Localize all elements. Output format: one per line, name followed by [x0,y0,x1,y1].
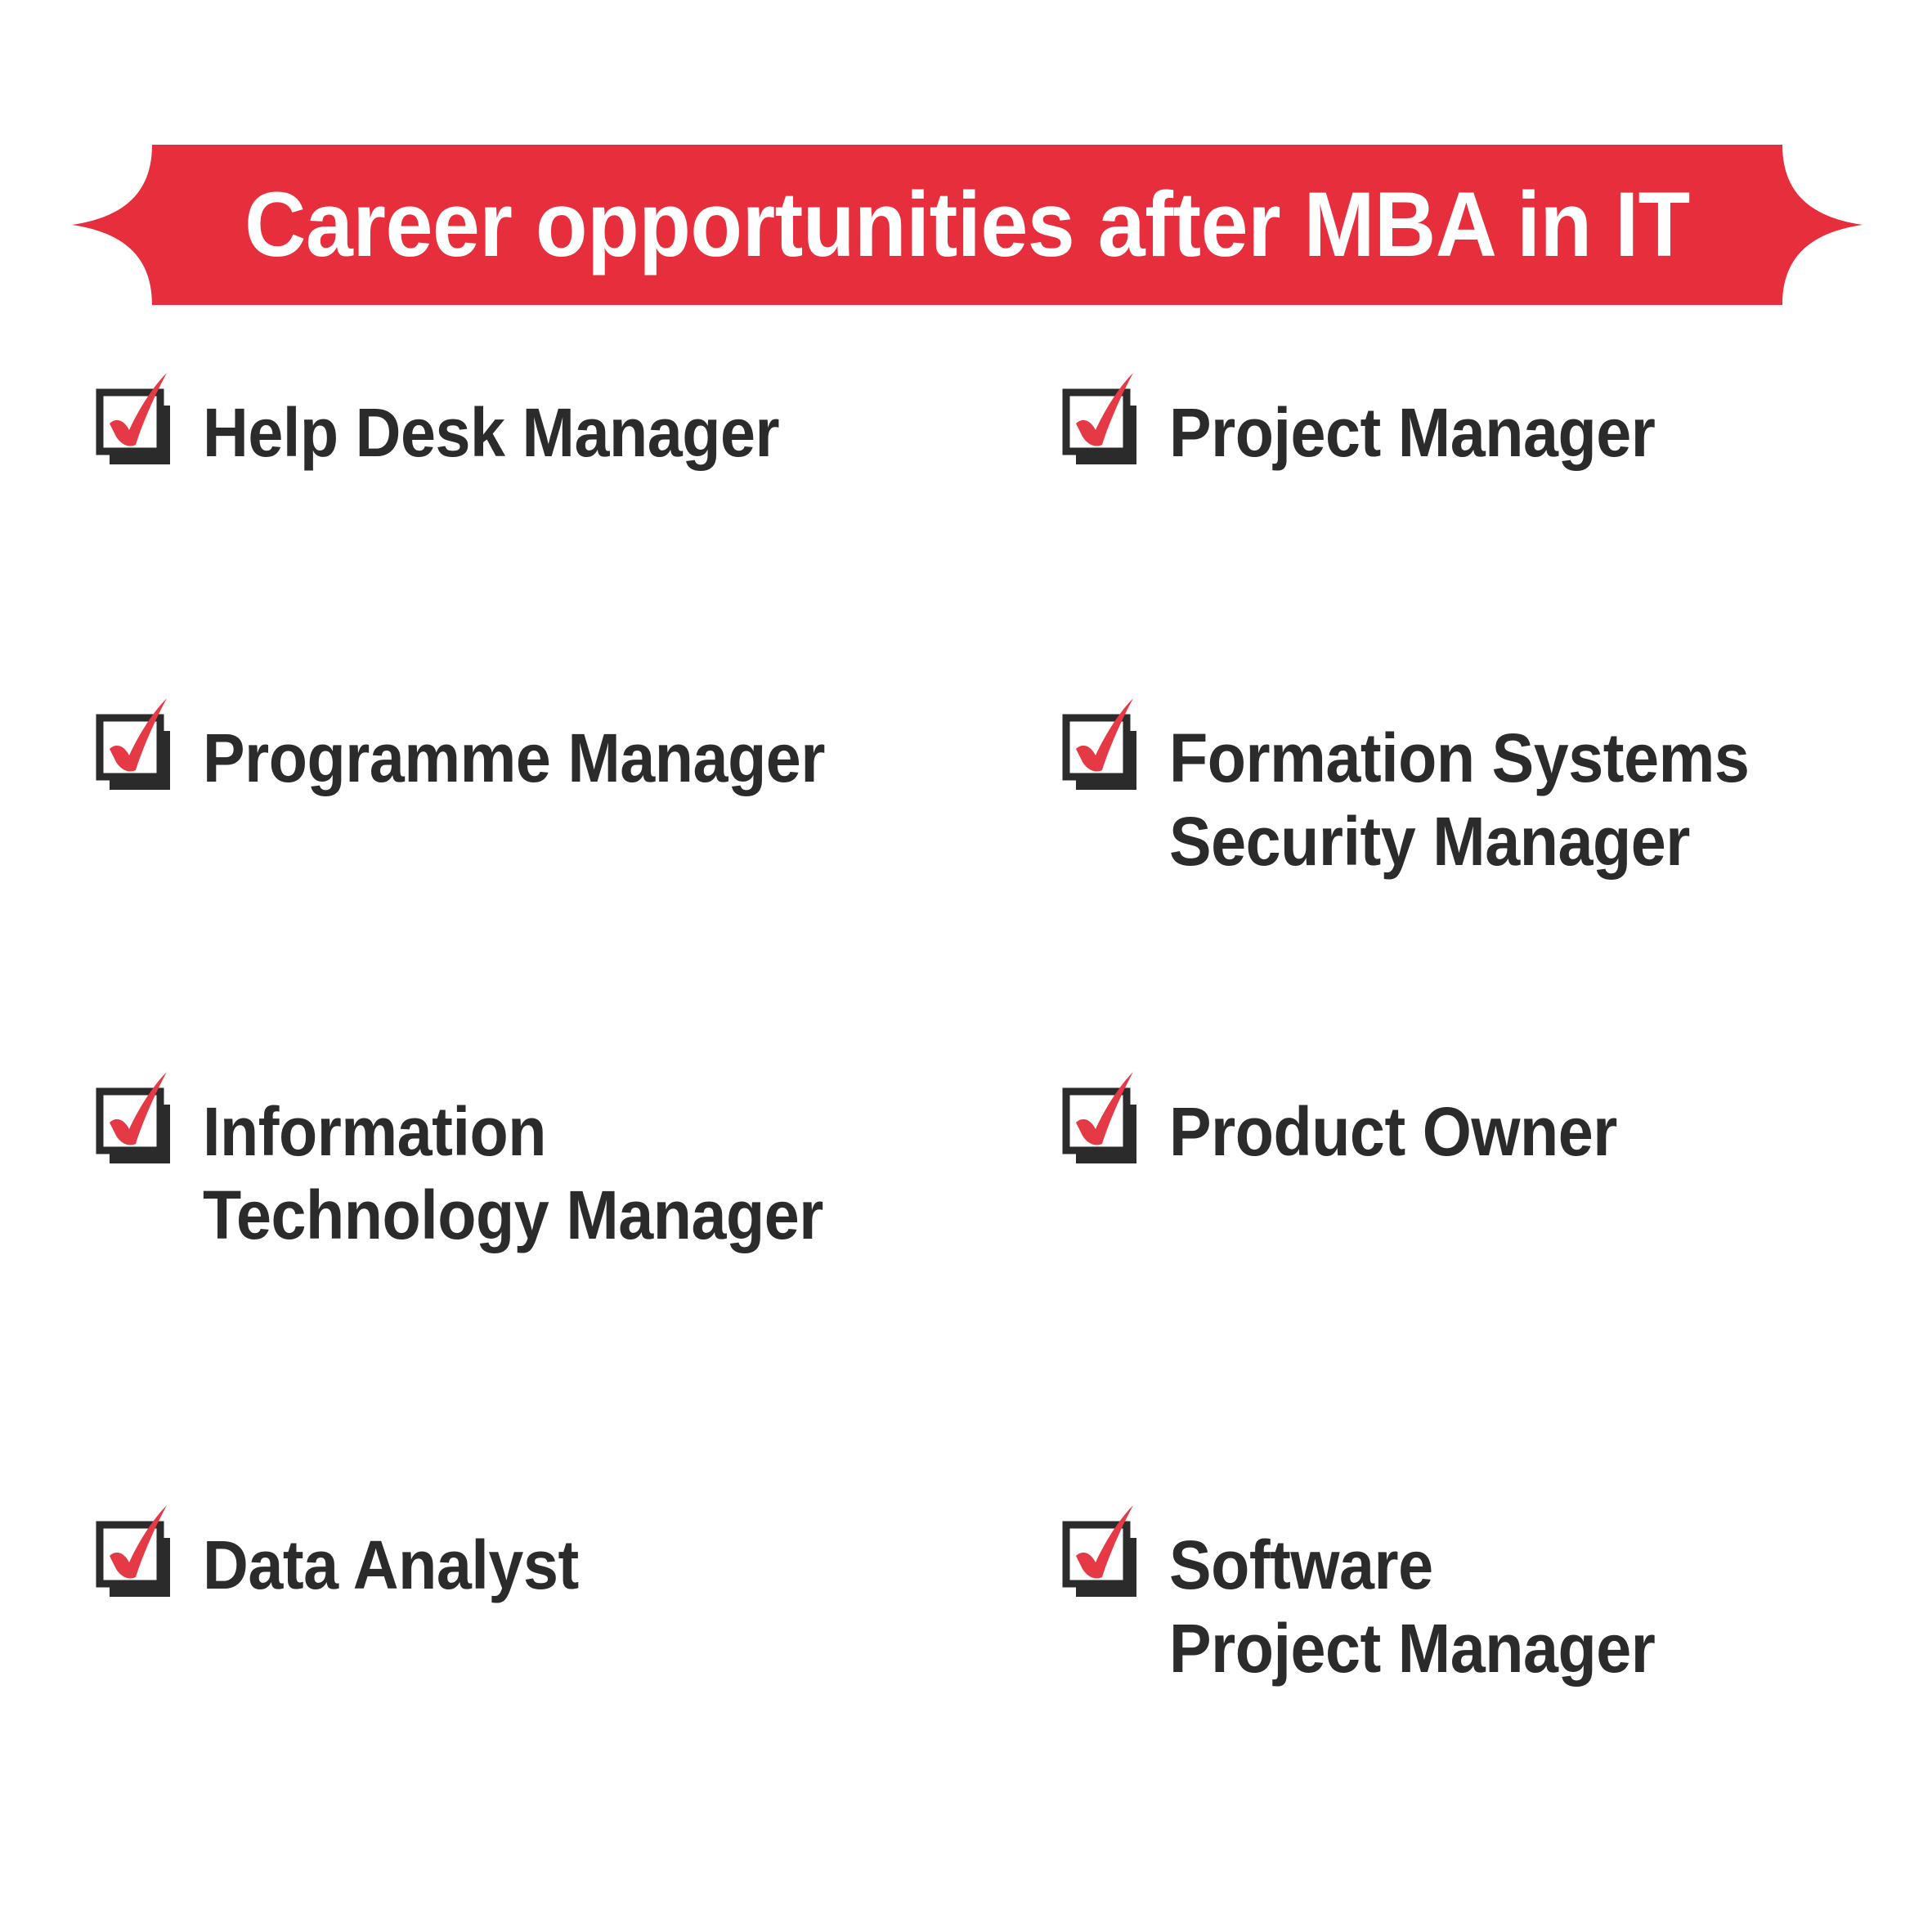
list-item[interactable]: Programme Manager [96,685,963,800]
checked-checkbox-icon [1063,1069,1141,1167]
list-item-label: Information Technology Manager [203,1059,823,1257]
list-item-label: Help Desk Manager [203,360,779,474]
checked-checkbox-icon [1063,1502,1141,1600]
list-item[interactable]: Information Technology Manager [96,1059,963,1257]
list-item-label: Programme Manager [203,685,825,800]
list-item[interactable]: Software Project Manager [1063,1492,1930,1691]
checked-checkbox-icon [1063,370,1141,468]
poster-canvas: Career opportunities after MBA in IT Hel… [0,0,1932,1932]
list-item[interactable]: Data Analyst [96,1492,963,1607]
list-item[interactable]: Project Manager [1063,360,1930,474]
checked-checkbox-icon [96,370,175,468]
list-item[interactable]: Formation Systems Security Manager [1063,685,1930,884]
checked-checkbox-icon [1063,695,1141,793]
banner: Career opportunities after MBA in IT [72,131,1863,319]
list-item-label: Project Manager [1169,360,1655,474]
checked-checkbox-icon [96,1069,175,1167]
checked-checkbox-icon [96,1502,175,1600]
list-item-label: Formation Systems Security Manager [1169,685,1749,884]
checked-checkbox-icon [96,695,175,793]
list-item-label: Product Owner [1169,1059,1617,1173]
banner-title: Career opportunities after MBA in IT [135,131,1800,319]
list-item-label: Data Analyst [203,1492,579,1607]
list-item[interactable]: Help Desk Manager [96,360,963,474]
list-item[interactable]: Product Owner [1063,1059,1930,1173]
list-item-label: Software Project Manager [1169,1492,1655,1691]
checklist-grid: Help Desk Manager Programme Manager [0,360,1932,1831]
